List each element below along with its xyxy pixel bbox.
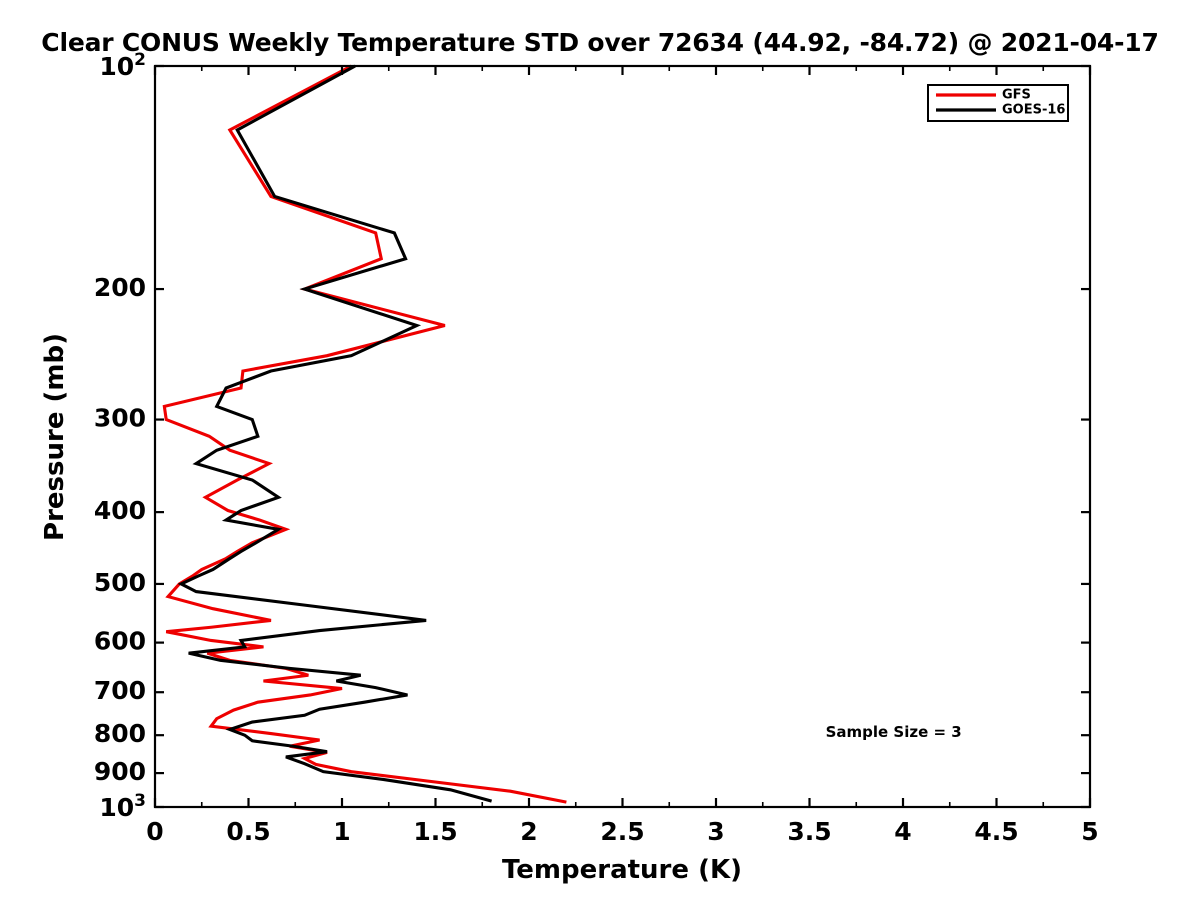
y-tick-label: 500 xyxy=(94,568,146,597)
y-axis-label: Pressure (mb) xyxy=(40,333,70,541)
y-tick-label: 102 xyxy=(99,50,146,81)
sample-size-annotation: Sample Size = 3 xyxy=(826,723,962,741)
y-tick-label: 400 xyxy=(94,496,146,525)
x-tick-label: 0.5 xyxy=(226,817,270,846)
x-tick-label: 2 xyxy=(520,817,537,846)
y-tick-label: 103 xyxy=(99,791,146,822)
x-tick-label: 4 xyxy=(894,817,911,846)
y-tick-label: 700 xyxy=(94,676,146,705)
y-tick-label: 900 xyxy=(94,757,146,786)
x-tick-label: 2.5 xyxy=(600,817,644,846)
legend[interactable]: GFSGOES-16 xyxy=(928,85,1068,121)
y-tick-label: 300 xyxy=(94,404,146,433)
x-tick-label: 5 xyxy=(1081,817,1098,846)
x-tick-label: 3 xyxy=(707,817,724,846)
y-tick-label: 200 xyxy=(94,273,146,302)
x-tick-label: 1.5 xyxy=(413,817,457,846)
series-layer xyxy=(164,66,566,802)
plot-area: 00.511.522.533.544.551022003004005006007… xyxy=(0,0,1200,900)
chart-svg: 00.511.522.533.544.551022003004005006007… xyxy=(0,0,1200,900)
x-tick-label: 4.5 xyxy=(974,817,1018,846)
y-tick-label: 800 xyxy=(94,719,146,748)
x-tick-label: 1 xyxy=(333,817,350,846)
x-tick-label: 0 xyxy=(146,817,163,846)
y-tick-label: 600 xyxy=(94,627,146,656)
x-axis-label: Temperature (K) xyxy=(502,855,742,885)
figure-root: Clear CONUS Weekly Temperature STD over … xyxy=(0,0,1200,900)
legend-label-goes-16: GOES-16 xyxy=(1002,103,1065,118)
legend-label-gfs: GFS xyxy=(1002,88,1031,103)
x-tick-label: 3.5 xyxy=(787,817,831,846)
series-line-gfs xyxy=(164,66,566,802)
